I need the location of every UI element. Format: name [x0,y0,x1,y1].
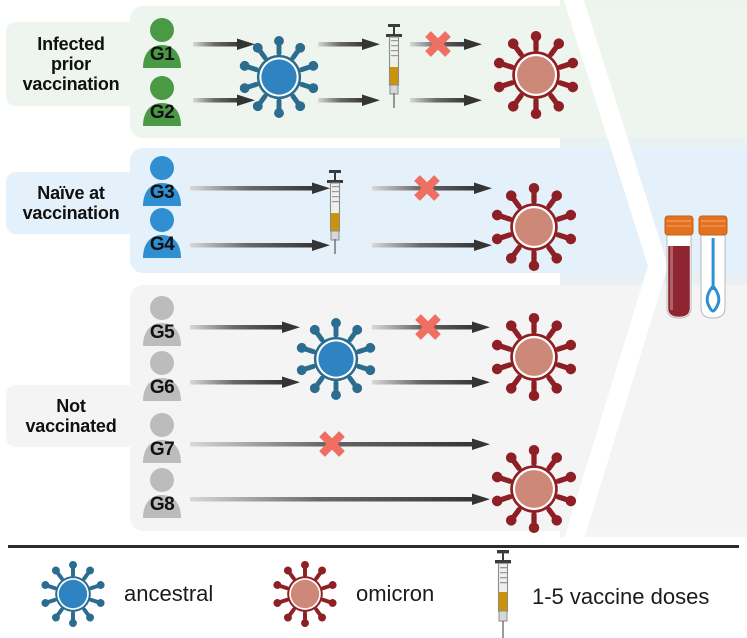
legend-label-ancestral: ancestral [124,581,213,607]
person-label: G4 [139,232,185,258]
label-line-1: Infected [23,34,120,54]
arrow-G8-to-omicron [190,492,490,506]
study-design-diagram: Infected prior vaccination Naïve at vacc… [0,0,747,537]
blocked-x-icon-G1 [423,29,453,59]
person-icon-G6: G6 [139,350,185,403]
legend-divider [8,545,739,548]
label-line-1: Naïve at [23,183,120,203]
arrow-G6-to-omicron [372,375,490,389]
person-label: G5 [139,320,185,346]
ancestral-virus-icon-block3 [295,318,377,400]
arrow-G6-to-ancestral [190,375,300,389]
person-label: G2 [139,100,185,126]
blocked-x-icon-G3 [412,173,442,203]
arrow-G4-to-vaccine [190,238,330,252]
label-not-vaccinated: Not vaccinated [6,385,136,447]
label-line-2: prior [23,54,120,74]
blocked-x-icon-G7 [317,429,347,459]
blood-and-swab-samples [661,212,731,322]
syringe-icon [490,550,516,638]
figure-root: Infected prior vaccination Naïve at vacc… [0,0,747,638]
person-icon-G8: G8 [139,467,185,520]
arrow-G5-to-ancestral [190,320,300,334]
blocked-x-icon-G5 [413,312,443,342]
label-line-2: vaccinated [25,416,116,436]
person-icon-G4: G4 [139,207,185,260]
omicron-virus-icon [272,561,338,627]
legend: ancestral omic [0,537,747,638]
label-naive-at-vaccination: Naïve at vaccination [6,172,136,234]
person-icon-G2: G2 [139,75,185,128]
person-icon-G1: G1 [139,17,185,70]
ancestral-virus-icon [40,561,106,627]
swab-tube-icon [699,216,727,318]
person-label: G7 [139,437,185,463]
arrow-G2-to-vaccine [318,93,380,107]
person-label: G1 [139,42,185,68]
legend-item-vaccine-doses: 1-5 vaccine doses [490,550,709,638]
person-label: G6 [139,375,185,401]
person-icon-G3: G3 [139,155,185,208]
omicron-virus-icon-block3-lower [490,445,578,533]
syringe-icon-block1 [381,24,407,108]
label-line-1: Not [25,396,116,416]
syringe-icon-block2 [322,170,348,254]
arrow-G2-to-omicron [410,93,482,107]
omicron-virus-icon-block2 [490,183,578,271]
blood-tube-icon [665,216,693,318]
person-label: G3 [139,180,185,206]
ancestral-virus-icon-block1 [238,36,320,118]
person-icon-G7: G7 [139,412,185,465]
legend-label-omicron: omicron [356,581,434,607]
person-icon-G5: G5 [139,295,185,348]
legend-label-vaccine-doses: 1-5 vaccine doses [532,584,709,610]
omicron-virus-icon-block3-upper [490,313,578,401]
legend-item-omicron: omicron [272,561,434,627]
arrow-G1-to-vaccine [318,37,380,51]
omicron-virus-icon-block1 [492,31,580,119]
label-line-3: vaccination [23,74,120,94]
legend-item-ancestral: ancestral [40,561,213,627]
arrow-G4-to-omicron [372,238,492,252]
label-infected-prior-vaccination: Infected prior vaccination [6,22,136,106]
person-label: G8 [139,492,185,518]
label-line-2: vaccination [23,203,120,223]
arrow-G3-to-vaccine [190,181,330,195]
